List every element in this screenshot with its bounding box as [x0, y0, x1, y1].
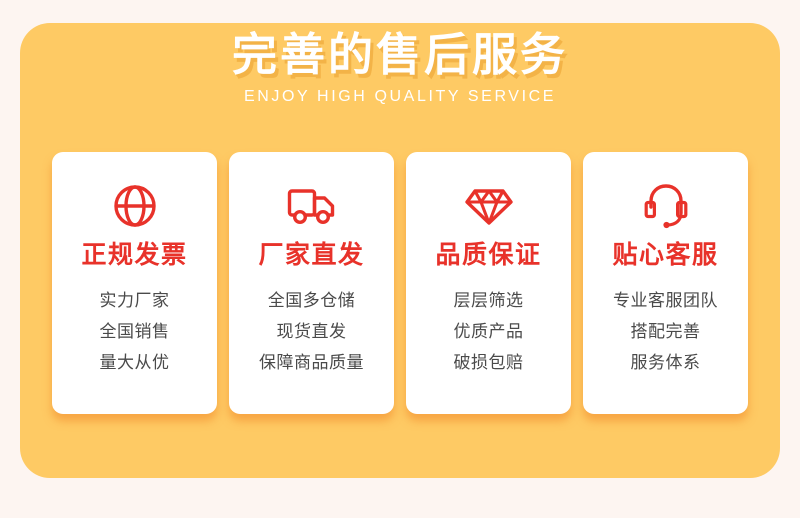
feature-card-line: 量大从优 [100, 348, 170, 379]
banner-root: 完善的售后服务 ENJOY HIGH QUALITY SERVICE 正规发票 … [0, 0, 800, 518]
banner-header: 完善的售后服务 ENJOY HIGH QUALITY SERVICE [0, 0, 800, 106]
feature-card-lines: 全国多仓储 现货直发 保障商品质量 [259, 286, 364, 379]
feature-card-invoice[interactable]: 正规发票 实力厂家 全国销售 量大从优 [52, 152, 217, 414]
feature-card-line: 保障商品质量 [259, 348, 364, 379]
feature-card-line: 现货直发 [259, 317, 364, 348]
feature-card-title: 厂家直发 [258, 241, 364, 269]
feature-card-line: 破损包赔 [454, 348, 524, 379]
feature-card-title: 品质保证 [435, 241, 541, 269]
headset-icon [643, 178, 689, 234]
feature-card-title: 正规发票 [81, 241, 187, 269]
globe-icon [111, 178, 159, 234]
diamond-icon [464, 178, 514, 234]
feature-card-line: 全国多仓储 [259, 286, 364, 317]
feature-card-line: 层层筛选 [454, 286, 524, 317]
feature-card-list: 正规发票 实力厂家 全国销售 量大从优 厂家直发 全国多仓储 现货直发 [52, 152, 748, 414]
feature-card-line: 实力厂家 [100, 286, 170, 317]
feature-card-line: 搭配完善 [613, 317, 718, 348]
feature-card-lines: 层层筛选 优质产品 破损包赔 [454, 286, 524, 379]
feature-card-lines: 实力厂家 全国销售 量大从优 [100, 286, 170, 379]
feature-card-shipping[interactable]: 厂家直发 全国多仓储 现货直发 保障商品质量 [229, 152, 394, 414]
page-subtitle: ENJOY HIGH QUALITY SERVICE [0, 88, 800, 106]
feature-card-line: 优质产品 [454, 317, 524, 348]
feature-card-line: 全国销售 [100, 317, 170, 348]
feature-card-lines: 专业客服团队 搭配完善 服务体系 [613, 286, 718, 379]
feature-card-quality[interactable]: 品质保证 层层筛选 优质产品 破损包赔 [406, 152, 571, 414]
page-title: 完善的售后服务 [0, 31, 800, 78]
truck-icon [286, 178, 338, 234]
feature-card-support[interactable]: 贴心客服 专业客服团队 搭配完善 服务体系 [583, 152, 748, 414]
feature-card-title: 贴心客服 [612, 241, 718, 269]
feature-card-line: 专业客服团队 [613, 286, 718, 317]
feature-card-line: 服务体系 [613, 348, 718, 379]
